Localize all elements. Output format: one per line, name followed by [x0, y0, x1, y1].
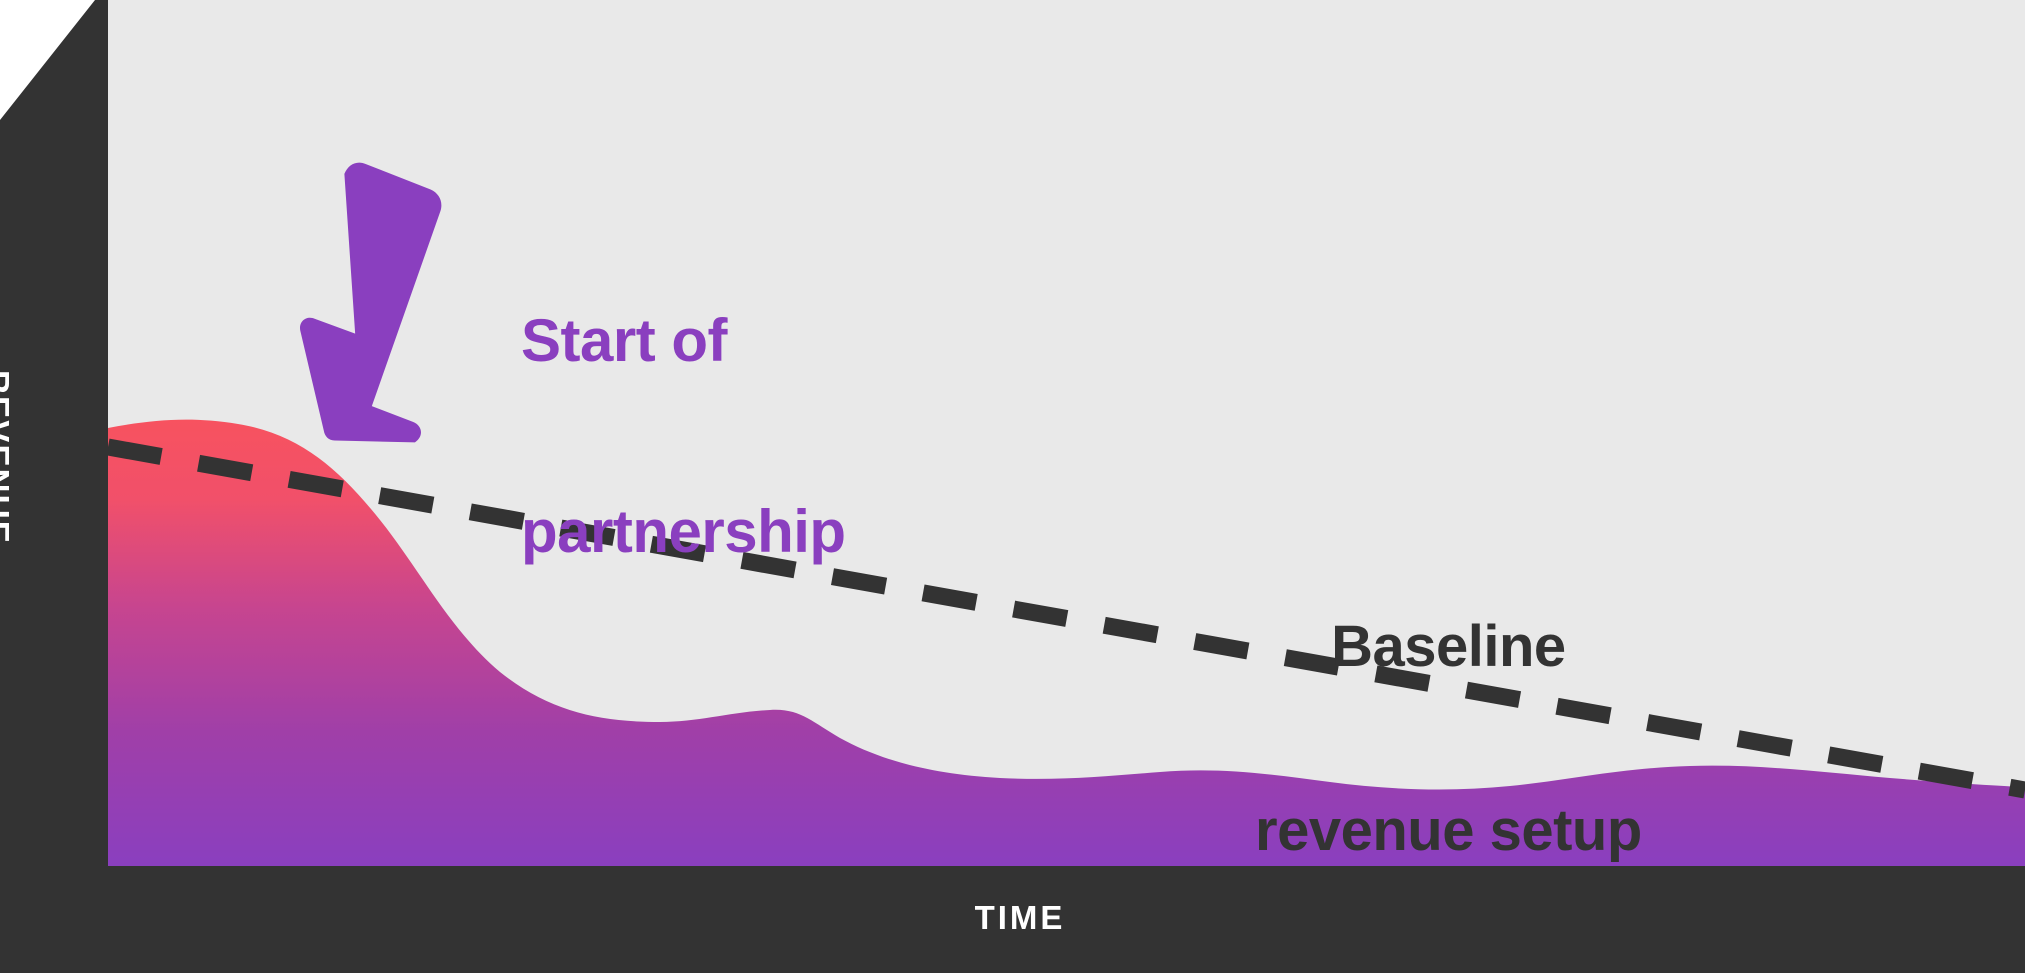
annotation-baseline-line-2: revenue setup: [1255, 800, 1642, 861]
annotation-start-line-1: Start of: [521, 309, 846, 373]
annotation-baseline-revenue-setup: Baseline revenue setup: [1255, 493, 1642, 973]
revenue-decline-area-chart: [0, 0, 2025, 973]
annotation-baseline-line-1: Baseline: [1255, 616, 1642, 677]
y-axis-label: REVENUE: [0, 370, 14, 545]
annotation-start-line-2: partnership: [521, 500, 846, 564]
annotation-start-of-partnership: Start of partnership: [521, 182, 846, 691]
chart-canvas: Start of partnership Baseline revenue se…: [0, 0, 2025, 973]
x-axis-label: TIME: [975, 901, 1066, 936]
